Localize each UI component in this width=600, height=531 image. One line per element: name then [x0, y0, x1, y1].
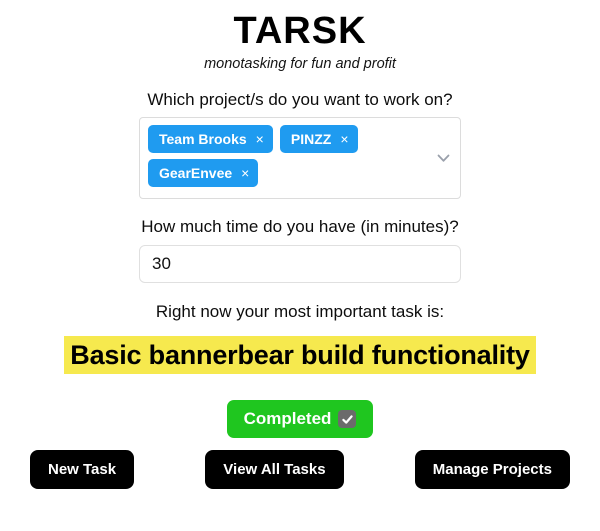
- manage-projects-button[interactable]: Manage Projects: [415, 450, 570, 489]
- app-title: TARSK: [233, 12, 366, 52]
- minutes-input[interactable]: [139, 245, 461, 283]
- close-icon[interactable]: ×: [256, 132, 264, 146]
- time-field: How much time do you have (in minutes)?: [139, 199, 461, 282]
- project-field-label: Which project/s do you want to work on?: [139, 90, 461, 110]
- project-tag-label: PINZZ: [291, 132, 331, 146]
- app-tagline: monotasking for fun and profit: [204, 56, 396, 72]
- view-all-tasks-button[interactable]: View All Tasks: [205, 450, 343, 489]
- project-tag-label: Team Brooks: [159, 132, 247, 146]
- close-icon[interactable]: ×: [340, 132, 348, 146]
- project-field: Which project/s do you want to work on? …: [139, 72, 461, 199]
- time-field-label: How much time do you have (in minutes)?: [139, 217, 461, 237]
- task-title-row: Basic bannerbear build functionality: [0, 336, 600, 375]
- project-tag-label: GearEnvee: [159, 166, 232, 180]
- completed-button-label: Completed: [244, 409, 332, 429]
- project-tag-pinzz[interactable]: PINZZ ×: [280, 125, 358, 153]
- close-icon[interactable]: ×: [241, 166, 249, 180]
- bottom-nav-bar: New Task View All Tasks Manage Projects: [0, 441, 600, 531]
- new-task-button[interactable]: New Task: [30, 450, 134, 489]
- chevron-down-icon[interactable]: [436, 151, 450, 165]
- project-tag-team-brooks[interactable]: Team Brooks ×: [148, 125, 273, 153]
- task-title: Basic bannerbear build functionality: [64, 336, 535, 375]
- project-multiselect[interactable]: Team Brooks × PINZZ × GearEnvee ×: [139, 117, 461, 199]
- project-tag-gearenvee[interactable]: GearEnvee ×: [148, 159, 258, 187]
- task-intro-text: Right now your most important task is:: [156, 302, 444, 322]
- completed-button[interactable]: Completed: [227, 400, 374, 438]
- check-mark-button-icon: [338, 410, 356, 428]
- completed-row: Completed: [0, 400, 600, 438]
